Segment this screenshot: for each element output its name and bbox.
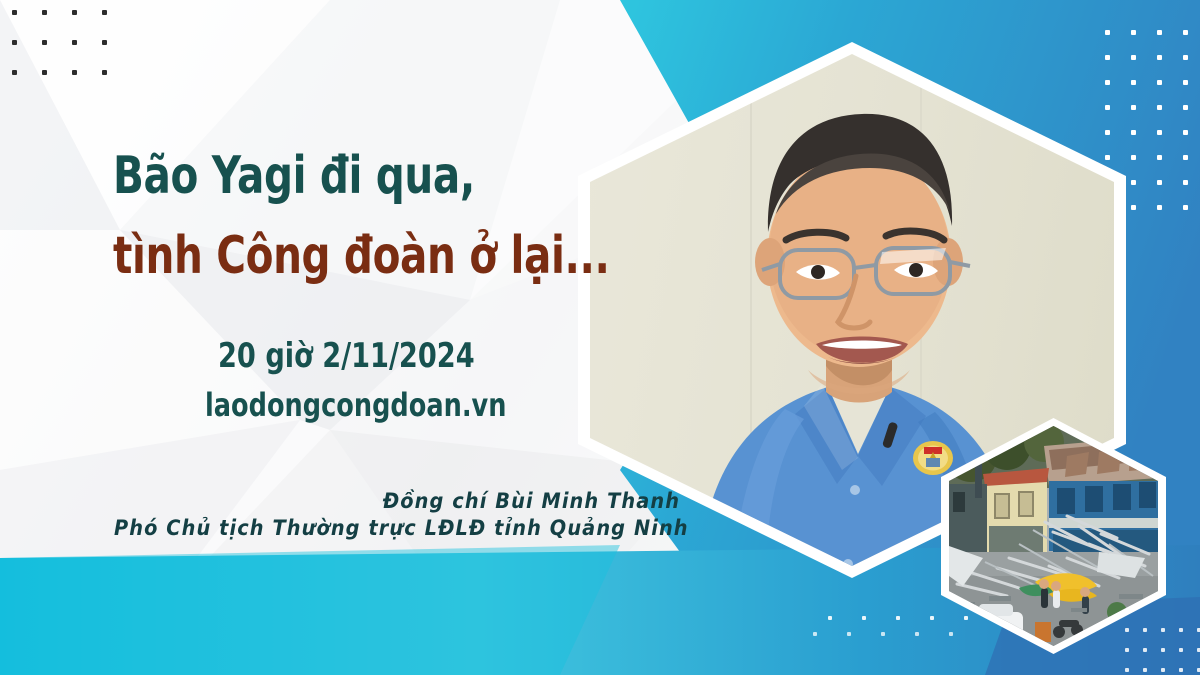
broadcast-time: 20 giờ 2/11/2024	[218, 336, 475, 376]
website-url[interactable]: laodongcongdoan.vn	[205, 386, 506, 424]
banner-canvas: Bão Yagi đi qua, tình Công đoàn ở lại...…	[0, 0, 1200, 675]
inset-hexagon	[941, 418, 1166, 654]
speaker-title: Phó Chủ tịch Thường trực LĐLĐ tỉnh Quảng…	[114, 516, 689, 540]
speaker-name: Đồng chí Bùi Minh Thanh	[383, 489, 680, 513]
headline-line-2: tình Công đoàn ở lại...	[113, 226, 610, 286]
dots-top-left	[12, 10, 109, 77]
headline-line-1: Bão Yagi đi qua,	[113, 146, 475, 206]
